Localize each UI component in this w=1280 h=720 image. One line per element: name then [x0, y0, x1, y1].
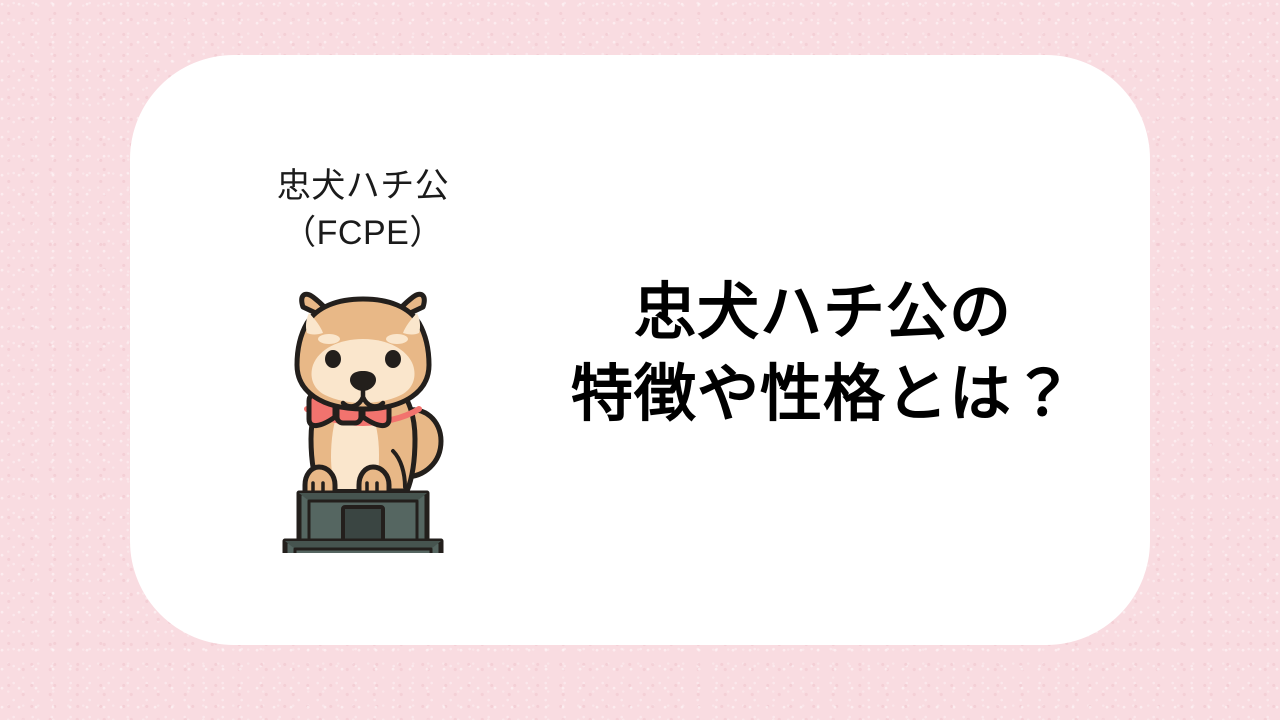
dog-eyebrow-right — [386, 334, 408, 344]
dog-eye-left — [325, 350, 341, 368]
page-title-line1: 忠犬ハチ公の — [553, 272, 1093, 354]
page-title: 忠犬ハチ公の 特徴や性格とは？ — [553, 272, 1093, 437]
illustration-caption-line1: 忠犬ハチ公 — [232, 163, 494, 210]
illustration-block: 忠犬ハチ公 （FCPE） — [232, 163, 494, 553]
shiba-inu-statue-illustration — [277, 291, 449, 553]
dog-eye-right — [385, 350, 401, 368]
pedestal — [285, 493, 441, 553]
shiba-inu-statue-icon — [232, 291, 494, 553]
page-title-line2: 特徴や性格とは？ — [553, 354, 1093, 436]
illustration-caption-line2: （FCPE） — [232, 210, 494, 257]
slide-canvas: 忠犬ハチ公 （FCPE） — [0, 0, 1280, 720]
dog-eyebrow-left — [318, 334, 340, 344]
